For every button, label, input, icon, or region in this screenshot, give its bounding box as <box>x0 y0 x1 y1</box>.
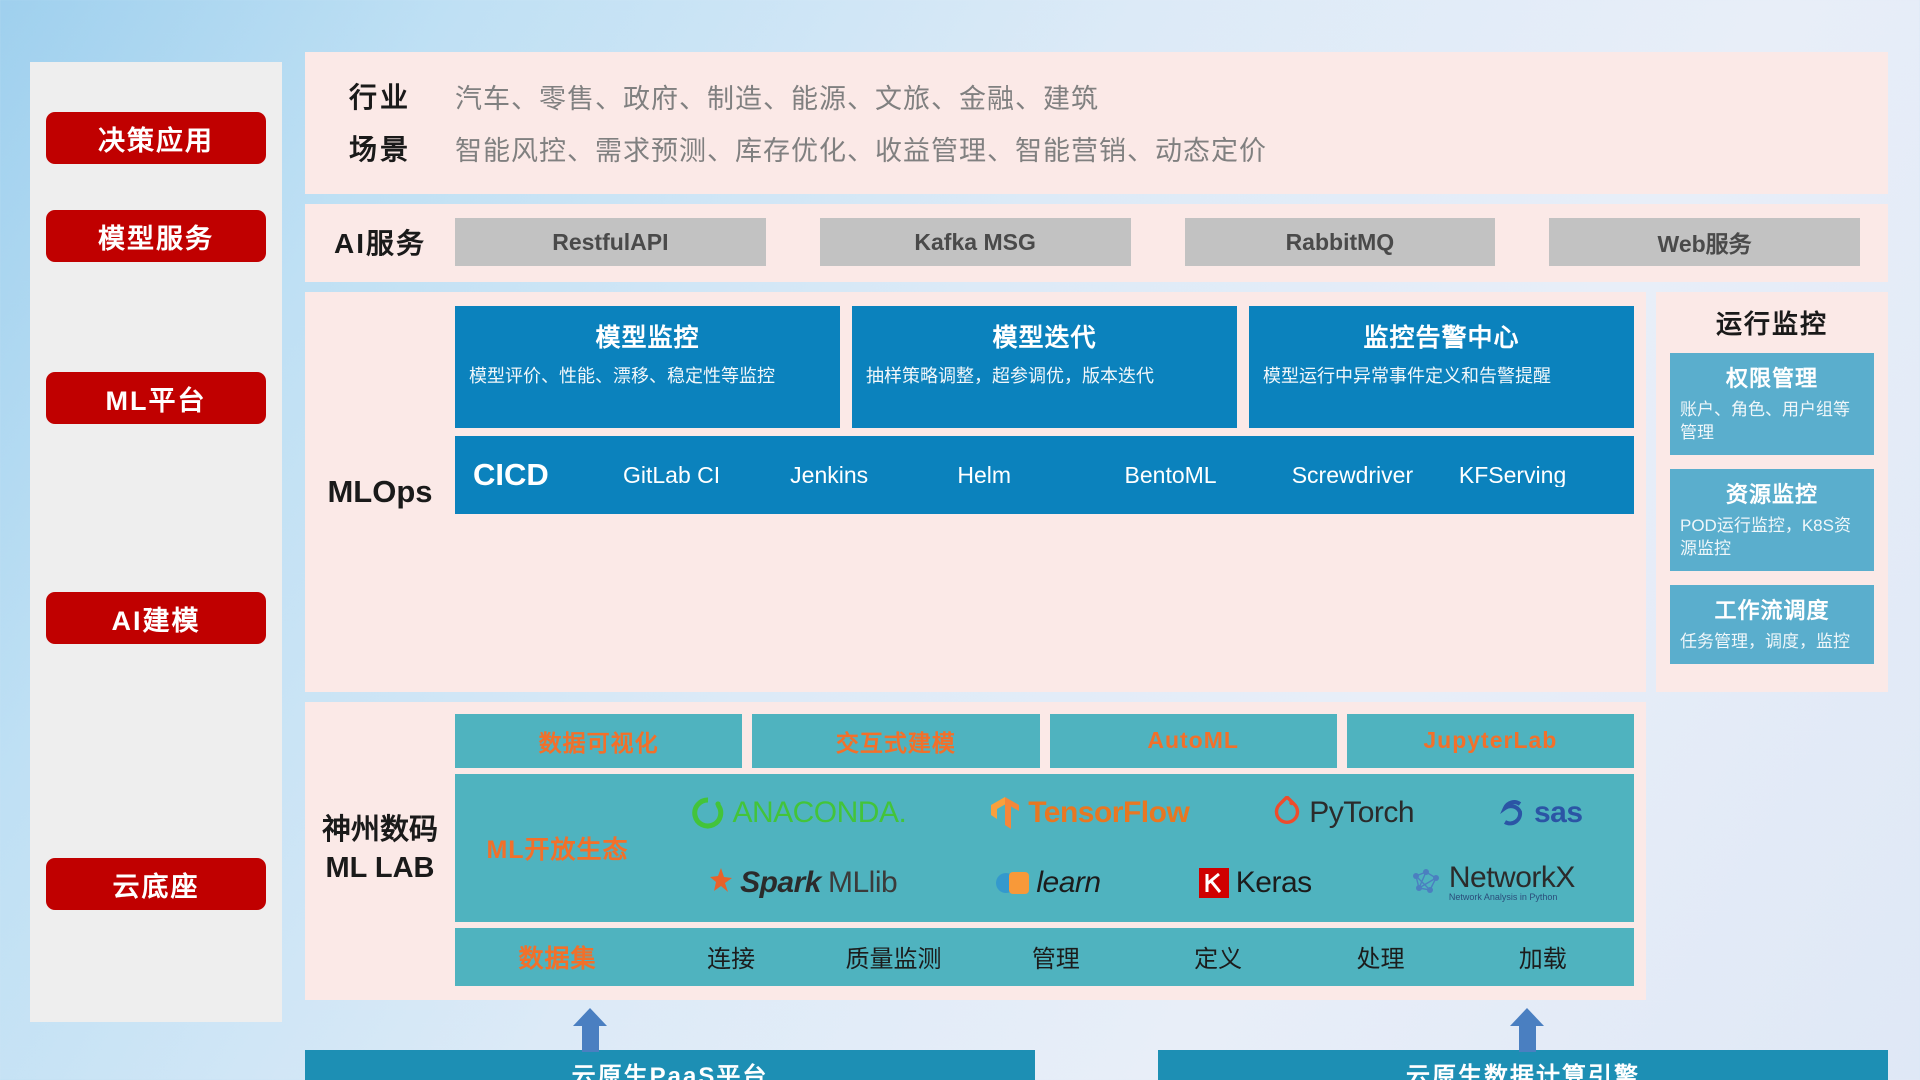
cloud-paas-title: 云原生PaaS平台 <box>305 1050 1035 1080</box>
card-title: 模型迭代 <box>866 318 1223 354</box>
cicd-items: GitLab CI Jenkins Helm BentoML Screwdriv… <box>623 463 1626 487</box>
rail-label-text: ML平台 <box>106 379 207 418</box>
scikit-learn-icon <box>995 868 1029 898</box>
card-desc: POD运行监控，K8S资源监控 <box>1680 515 1864 561</box>
monitor-card-resource[interactable]: 资源监控 POD运行监控，K8S资源监控 <box>1670 469 1874 571</box>
tensorflow-icon <box>989 795 1021 831</box>
rail-label-ml-platform[interactable]: ML平台 <box>46 372 266 424</box>
keras-logo: Keras <box>1199 866 1312 900</box>
anaconda-label: ANACONDA. <box>732 796 906 830</box>
cloud-compute-title: 云原生数据计算引擎 <box>1158 1050 1888 1080</box>
ml-lab-key-line2: ML LAB <box>325 850 434 888</box>
keras-label: Keras <box>1236 866 1312 900</box>
rail-label-cloud-base[interactable]: 云底座 <box>46 858 266 910</box>
industry-list: 汽车、零售、政府、制造、能源、文旅、金融、建筑 <box>455 77 1099 116</box>
mlops-card-alert-center[interactable]: 监控告警中心 模型运行中异常事件定义和告警提醒 <box>1249 306 1634 428</box>
spark-label: Spark <box>740 866 821 900</box>
lab-tool-automl[interactable]: AutoML <box>1050 714 1337 768</box>
cicd-item-kfserving[interactable]: KFServing <box>1459 463 1626 487</box>
ai-service-key: AI服务 <box>305 222 455 262</box>
card-title: 工作流调度 <box>1680 593 1864 625</box>
service-chip-restfulapi[interactable]: RestfulAPI <box>455 218 766 266</box>
run-monitor-title: 运行监控 <box>1670 304 1874 341</box>
networkx-label: NetworkX <box>1449 863 1575 893</box>
decision-apps-band: 行业 汽车、零售、政府、制造、能源、文旅、金融、建筑 场景 智能风控、需求预测、… <box>305 52 1888 194</box>
ai-service-band: AI服务 RestfulAPI Kafka MSG RabbitMQ Web服务 <box>305 204 1888 282</box>
lab-tools: 数据可视化 交互式建模 AutoML JupyterLab <box>455 714 1634 768</box>
keras-icon <box>1199 868 1229 898</box>
arrow-up-paas <box>573 1008 607 1052</box>
networkx-icon <box>1410 868 1442 898</box>
ml-lab-key-line1: 神州数码 <box>322 812 438 850</box>
spark-mllib-logo: Spark MLlib <box>699 866 897 900</box>
ml-ecosystem-logos: ANACONDA. TensorFlow <box>650 780 1624 916</box>
mlops-card-model-iteration[interactable]: 模型迭代 抽样策略调整，超参调优，版本迭代 <box>852 306 1237 428</box>
mlops-band: MLOps 模型监控 模型评价、性能、漂移、稳定性等监控 模型迭代 抽样策略调整… <box>305 292 1646 692</box>
scenario-key: 场景 <box>305 128 455 168</box>
mlops-card-model-monitor[interactable]: 模型监控 模型评价、性能、漂移、稳定性等监控 <box>455 306 840 428</box>
tensorflow-label: TensorFlow <box>1028 796 1189 830</box>
mlops-content: 模型监控 模型评价、性能、漂移、稳定性等监控 模型迭代 抽样策略调整，超参调优，… <box>455 306 1634 678</box>
dataset-items: 连接 质量监测 管理 定义 处理 加载 <box>650 939 1624 974</box>
card-title: 模型监控 <box>469 318 826 354</box>
cicd-item-gitlab-ci[interactable]: GitLab CI <box>623 463 790 487</box>
run-monitor-band: 运行监控 权限管理 账户、角色、用户组等管理 资源监控 POD运行监控，K8S资… <box>1656 292 1888 692</box>
spark-star-icon <box>699 866 733 900</box>
tensorflow-logo: TensorFlow <box>989 795 1189 831</box>
ml-ecosystem-row: ML开放生态 ANACONDA. <box>455 774 1634 922</box>
cloud-compute-column: 云原生数据计算引擎 Kafka Spark Presto Flink Hadoo… <box>1158 1050 1888 1080</box>
cicd-title: CICD <box>473 457 623 493</box>
rail-label-model-service[interactable]: 模型服务 <box>46 210 266 262</box>
cicd-item-bentoml[interactable]: BentoML <box>1125 463 1292 487</box>
mlops-key: MLOps <box>305 306 455 678</box>
scikit-learn-logo: learn <box>995 866 1100 900</box>
service-chip-web[interactable]: Web服务 <box>1549 218 1860 266</box>
card-desc: 模型运行中异常事件定义和告警提醒 <box>1263 364 1620 390</box>
rail-label-text: 决策应用 <box>98 119 214 158</box>
learn-label: learn <box>1036 866 1100 900</box>
ai-modeling-band: 神州数码 ML LAB 数据可视化 交互式建模 AutoML JupyterLa… <box>305 702 1646 1000</box>
ml-ecosystem-label: ML开放生态 <box>465 830 650 866</box>
scenario-row: 场景 智能风控、需求预测、库存优化、收益管理、智能营销、动态定价 <box>305 122 1888 174</box>
monitor-card-permission[interactable]: 权限管理 账户、角色、用户组等管理 <box>1670 353 1874 455</box>
ml-lab-key: 神州数码 ML LAB <box>305 714 455 986</box>
card-title: 资源监控 <box>1680 477 1864 509</box>
cicd-item-screwdriver[interactable]: Screwdriver <box>1292 463 1459 487</box>
cicd-bar: CICD GitLab CI Jenkins Helm BentoML Scre… <box>455 436 1634 514</box>
sas-icon <box>1497 797 1527 829</box>
card-title: 监控告警中心 <box>1263 318 1620 354</box>
pytorch-logo: PyTorch <box>1272 796 1414 830</box>
layer-rail: 决策应用 模型服务 ML平台 AI建模 云底座 <box>30 62 282 1022</box>
cloud-paas-column: 云原生PaaS平台 Nginx Kong Istio RocketMQ GRPC… <box>305 1050 1035 1080</box>
cloud-foundation-row: 云原生PaaS平台 Nginx Kong Istio RocketMQ GRPC… <box>305 1010 1888 1080</box>
pytorch-icon <box>1272 796 1302 830</box>
architecture-board: 行业 汽车、零售、政府、制造、能源、文旅、金融、建筑 场景 智能风控、需求预测、… <box>305 52 1888 1080</box>
dataset-item-define[interactable]: 定义 <box>1137 939 1299 974</box>
card-desc: 抽样策略调整，超参调优，版本迭代 <box>866 364 1223 390</box>
ecosystem-logo-line-2: Spark MLlib learn <box>650 850 1624 916</box>
service-chip-kafka-msg[interactable]: Kafka MSG <box>820 218 1131 266</box>
mllib-label: MLlib <box>828 866 897 900</box>
networkx-logo: NetworkX Network Analysis in Python <box>1410 863 1575 902</box>
industry-key: 行业 <box>305 76 455 116</box>
mlops-cards: 模型监控 模型评价、性能、漂移、稳定性等监控 模型迭代 抽样策略调整，超参调优，… <box>455 306 1634 428</box>
ecosystem-logo-line-1: ANACONDA. TensorFlow <box>650 780 1624 846</box>
cicd-item-jenkins[interactable]: Jenkins <box>790 463 957 487</box>
dataset-item-quality[interactable]: 质量监测 <box>812 939 974 974</box>
card-title: 权限管理 <box>1680 361 1864 393</box>
dataset-row: 数据集 连接 质量监测 管理 定义 处理 加载 <box>455 928 1634 986</box>
rail-label-decision[interactable]: 决策应用 <box>46 112 266 164</box>
anaconda-logo: ANACONDA. <box>691 796 906 830</box>
ai-service-items: RestfulAPI Kafka MSG RabbitMQ Web服务 <box>455 218 1888 266</box>
card-desc: 账户、角色、用户组等管理 <box>1680 399 1864 445</box>
dataset-item-manage[interactable]: 管理 <box>975 939 1137 974</box>
cicd-item-helm[interactable]: Helm <box>957 463 1124 487</box>
rail-label-text: 云底座 <box>113 865 200 904</box>
sas-label: sas <box>1534 796 1583 830</box>
rail-label-ai-modeling[interactable]: AI建模 <box>46 592 266 644</box>
monitor-card-workflow[interactable]: 工作流调度 任务管理，调度，监控 <box>1670 585 1874 664</box>
arrow-up-compute <box>1510 1008 1544 1052</box>
networkx-sublabel: Network Analysis in Python <box>1449 893 1575 902</box>
ml-lab-content: 数据可视化 交互式建模 AutoML JupyterLab ML开放生态 ANA… <box>455 714 1634 986</box>
sas-logo: sas <box>1497 796 1583 830</box>
ml-platform-row: MLOps 模型监控 模型评价、性能、漂移、稳定性等监控 模型迭代 抽样策略调整… <box>305 292 1888 692</box>
service-chip-rabbitmq[interactable]: RabbitMQ <box>1185 218 1496 266</box>
lab-tool-interactive-modeling[interactable]: 交互式建模 <box>752 714 1039 768</box>
dataset-label: 数据集 <box>465 939 650 975</box>
industry-row: 行业 汽车、零售、政府、制造、能源、文旅、金融、建筑 <box>305 70 1888 122</box>
rail-label-text: 模型服务 <box>98 217 214 256</box>
pytorch-label: PyTorch <box>1309 796 1414 830</box>
lab-tool-data-visualization[interactable]: 数据可视化 <box>455 714 742 768</box>
dataset-item-connect[interactable]: 连接 <box>650 939 812 974</box>
anaconda-icon <box>691 796 725 830</box>
rail-label-text: AI建模 <box>112 599 201 638</box>
dataset-item-process[interactable]: 处理 <box>1299 939 1461 974</box>
scenario-list: 智能风控、需求预测、库存优化、收益管理、智能营销、动态定价 <box>455 129 1267 168</box>
lab-tool-jupyterlab[interactable]: JupyterLab <box>1347 714 1634 768</box>
card-desc: 模型评价、性能、漂移、稳定性等监控 <box>469 364 826 390</box>
dataset-item-load[interactable]: 加载 <box>1462 939 1624 974</box>
card-desc: 任务管理，调度，监控 <box>1680 631 1864 654</box>
